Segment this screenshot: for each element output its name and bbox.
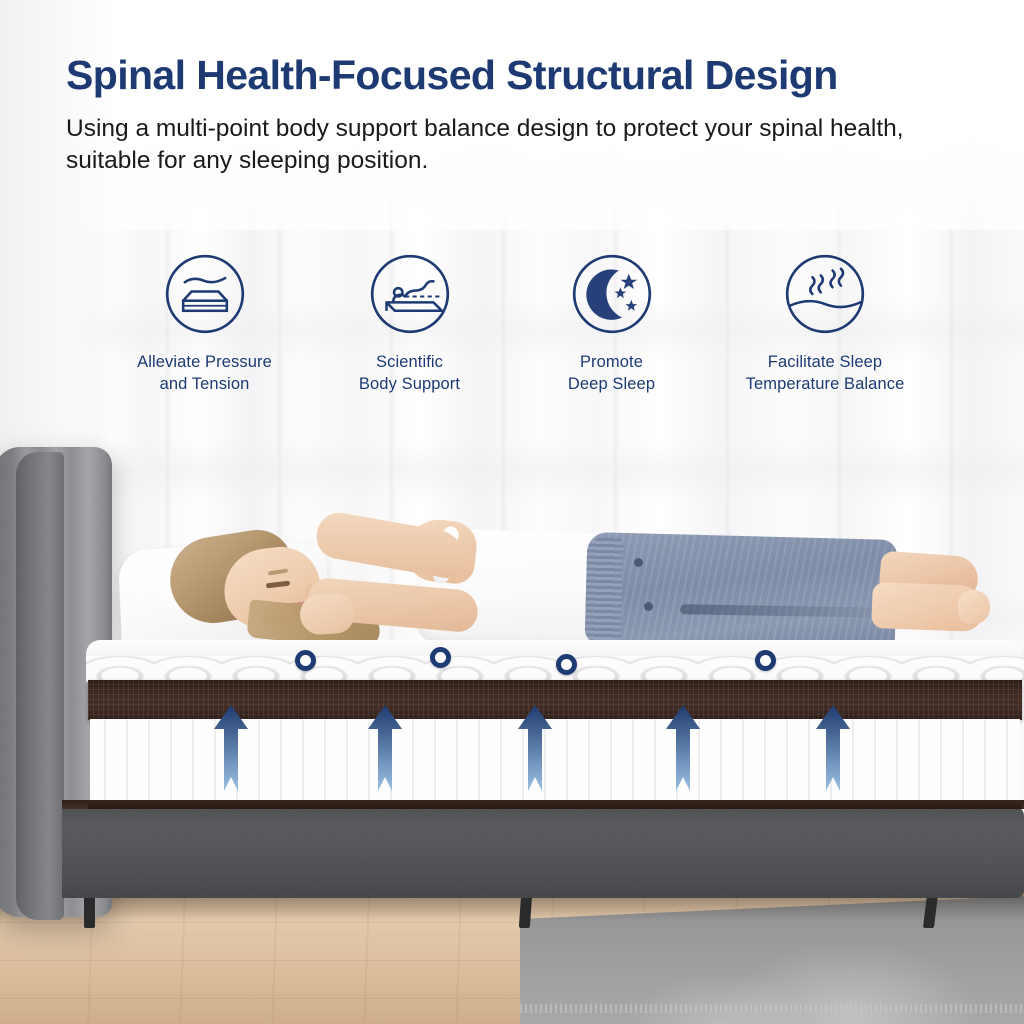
support-point-marker [295, 650, 316, 671]
mattress-pillow-top [86, 640, 1024, 682]
bed-leg [84, 894, 95, 928]
support-point-marker [755, 650, 776, 671]
feature-label: Facilitate Sleep Temperature Balance [746, 351, 905, 396]
feature-label: Alleviate Pressure and Tension [137, 351, 272, 396]
page-subtitle: Using a multi-point body support balance… [0, 97, 946, 178]
moon-stars-icon [570, 252, 654, 336]
feature-label-line2: Body Support [359, 375, 460, 393]
page-title: Spinal Health-Focused Structural Design [0, 0, 1024, 97]
area-rug-fringe [520, 1004, 1024, 1013]
support-point-marker [556, 654, 577, 675]
header: Spinal Health-Focused Structural Design … [0, 0, 1024, 178]
feature-label-line2: and Tension [160, 375, 250, 393]
support-arrow [368, 705, 402, 791]
feature-label-line2: Temperature Balance [746, 375, 905, 393]
pajama-waistband [585, 538, 624, 645]
mattress-pressure-relief-icon [163, 252, 247, 336]
feature-item-temperature-balance: Facilitate Sleep Temperature Balance [710, 252, 940, 396]
bed-base [62, 806, 1024, 898]
support-arrow [518, 705, 552, 791]
pajama-button [644, 602, 653, 611]
sleeping-woman [120, 498, 920, 658]
support-point-marker [430, 647, 451, 668]
feature-list: Alleviate Pressure and Tension Scientifi… [0, 252, 1024, 422]
mattress-bottom-trim [88, 800, 1022, 809]
headboard-front-panel [16, 452, 64, 920]
feature-label-line1: Alleviate Pressure [137, 353, 272, 371]
feature-label-line2: Deep Sleep [568, 375, 655, 393]
feature-item-scientific-body-support: Scientific Body Support [307, 252, 512, 396]
feature-label: Scientific Body Support [359, 351, 460, 396]
body-support-alignment-icon [368, 252, 452, 336]
heat-waves-icon [783, 252, 867, 336]
support-arrow [666, 705, 700, 791]
feature-label-line1: Scientific [376, 353, 443, 371]
product-feature-poster: Spinal Health-Focused Structural Design … [0, 0, 1024, 1024]
support-arrow [214, 705, 248, 791]
feature-label-line1: Facilitate Sleep [768, 353, 882, 371]
hand [299, 592, 356, 636]
feature-label: Promote Deep Sleep [568, 351, 655, 396]
feature-item-alleviate-pressure: Alleviate Pressure and Tension [102, 252, 307, 396]
support-arrow [816, 705, 850, 791]
feature-label-line1: Promote [580, 353, 643, 371]
pajama-button [634, 558, 643, 567]
feature-item-promote-deep-sleep: Promote Deep Sleep [509, 252, 714, 396]
